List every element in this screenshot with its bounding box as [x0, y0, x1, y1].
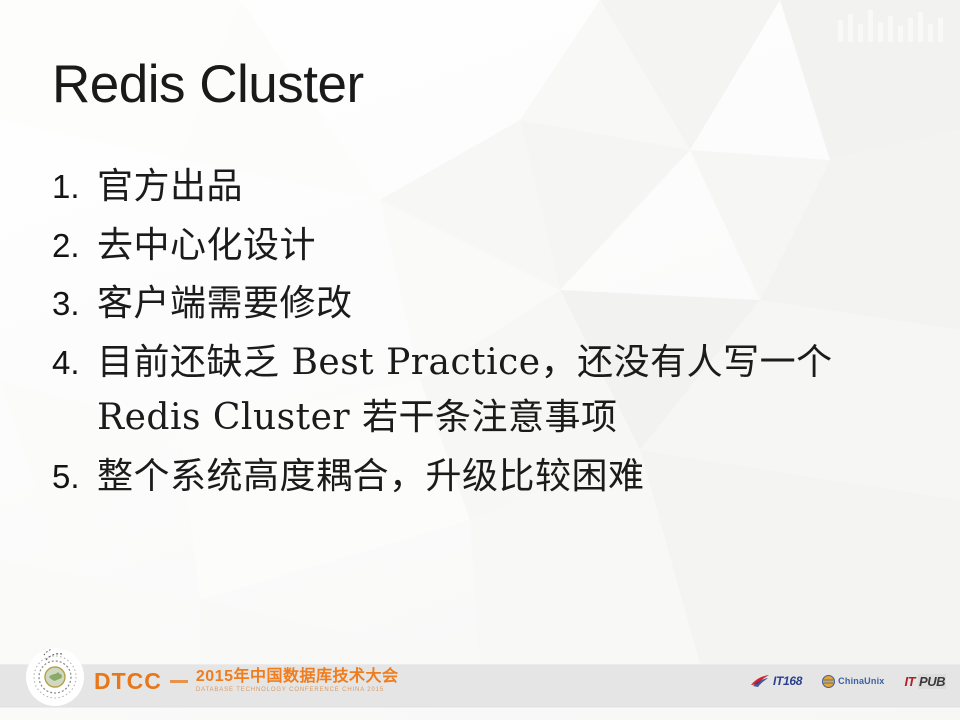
slide-canvas: Redis Cluster 1. 官方出品 2. 去中心化设计 3. 客户端需要… — [0, 0, 960, 720]
slide-title: Redis Cluster — [52, 56, 364, 114]
list-item-number: 1. — [52, 160, 97, 214]
list-item-number: 3. — [52, 277, 97, 331]
chinaunix-logo: ChinaUnix — [822, 672, 884, 690]
it168-label: IT168 — [773, 674, 802, 688]
dtcc-logo: DTCC 2015年中国数据库技术大会 DATABASE TECHNOLOGY … — [94, 669, 399, 693]
list-item-text: 官方出品 — [97, 160, 912, 215]
dtcc-divider — [170, 680, 188, 683]
list-item: 3. 客户端需要修改 — [52, 277, 912, 332]
conference-name-cn: 2015年中国数据库技术大会 — [196, 669, 399, 685]
list-item: 5. 整个系统高度耦合，升级比较困难 — [52, 450, 912, 505]
list-item-text: 去中心化设计 — [97, 219, 912, 274]
list-item-number: 5. — [52, 450, 97, 504]
dtcc-mark: DTCC — [94, 670, 162, 693]
it168-swoosh-icon — [750, 674, 770, 688]
list-item-text: 整个系统高度耦合，升级比较困难 — [97, 450, 912, 505]
conference-seal-icon — [24, 636, 86, 710]
list-item: 1. 官方出品 — [52, 160, 912, 215]
itpub-label-pub: PUB — [918, 674, 946, 689]
it168-logo: IT168 — [750, 672, 802, 690]
bullet-list: 1. 官方出品 2. 去中心化设计 3. 客户端需要修改 4. 目前还缺乏 Be… — [52, 160, 912, 508]
list-item-text: 客户端需要修改 — [97, 277, 912, 332]
list-item: 4. 目前还缺乏 Best Practice，还没有人写一个 Redis Clu… — [52, 336, 912, 445]
list-item-number: 2. — [52, 219, 97, 273]
chinaunix-label: ChinaUnix — [838, 676, 884, 686]
itpub-label-it: IT — [904, 674, 915, 689]
conference-name: 2015年中国数据库技术大会 DATABASE TECHNOLOGY CONFE… — [196, 669, 399, 693]
list-item-number: 4. — [52, 336, 97, 390]
conference-name-en: DATABASE TECHNOLOGY CONFERENCE CHINA 201… — [196, 687, 399, 693]
chinaunix-globe-icon — [822, 675, 835, 688]
list-item: 2. 去中心化设计 — [52, 219, 912, 274]
sponsor-logos: IT168 ChinaUnix ITPUB — [750, 672, 946, 690]
list-item-text: 目前还缺乏 Best Practice，还没有人写一个 Redis Cluste… — [97, 336, 912, 445]
itpub-logo: ITPUB — [904, 672, 946, 690]
footer-shadow — [0, 706, 960, 709]
